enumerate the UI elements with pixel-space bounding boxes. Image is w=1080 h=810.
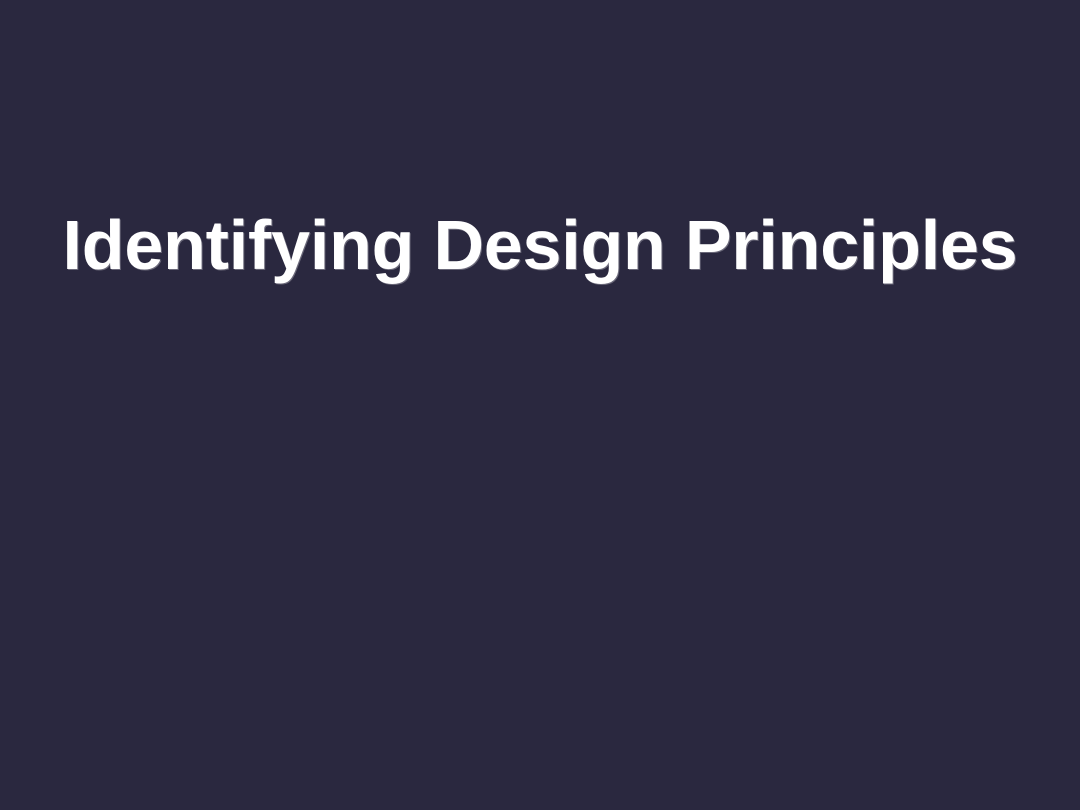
slide-title-block: Identifying Design Principles xyxy=(0,0,1080,330)
presentation-slide: Identifying Design Principles xyxy=(0,0,1080,810)
slide-title: Identifying Design Principles xyxy=(63,208,1018,284)
slide-body-region xyxy=(0,330,1080,810)
